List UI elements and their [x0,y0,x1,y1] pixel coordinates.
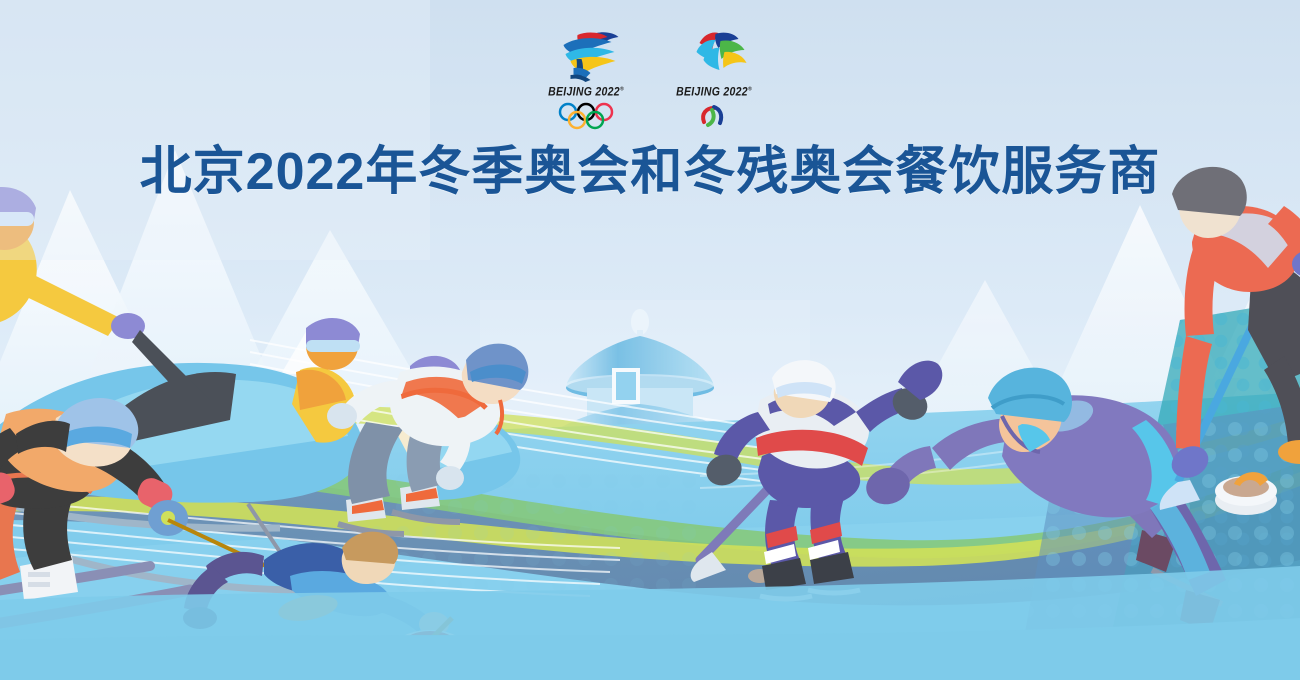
beijing-2022-winter-paralympics-emblem [676,30,752,82]
olympic-rings-icon [556,102,616,130]
emblem-row: BEIJING 2022® [0,30,1300,130]
paralympic-agitos-icon [684,102,744,130]
olympic-emblem-block: BEIJING 2022® [531,30,641,130]
beijing-2022-winter-olympics-emblem [548,30,624,82]
olympic-wordmark: BEIJING 2022® [548,85,624,99]
page-title: 北京2022年冬季奥会和冬残奥会餐饮服务商 [0,141,1300,203]
beijing-2022-catering-banner: BEIJING 2022® [0,0,1300,680]
paralympic-emblem-block: BEIJING 2022® [659,30,769,130]
paralympic-wordmark: BEIJING 2022® [676,85,752,99]
